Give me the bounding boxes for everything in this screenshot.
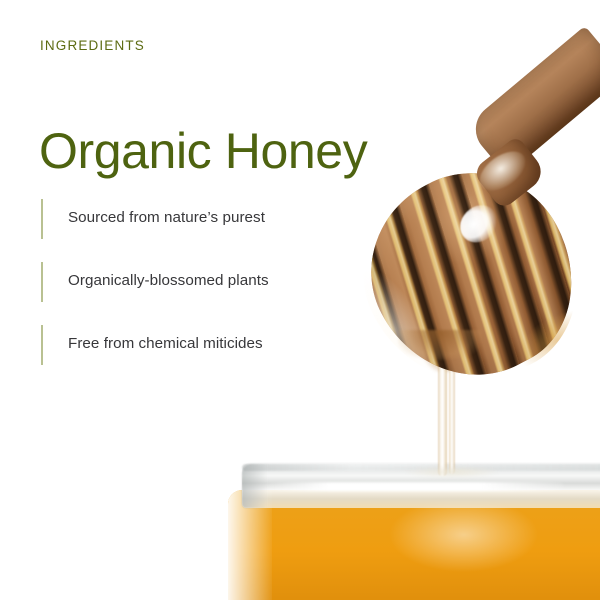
eyebrow-label: INGREDIENTS [40,38,145,53]
bullet-tick-icon [41,325,43,365]
jar-honey-fill [228,490,600,600]
dipper-gold-highlights [338,140,600,410]
dipper-ridges [338,140,600,410]
bullet-tick-icon [41,199,43,239]
dipper-handle-glaze [473,144,533,199]
honey-drip-pool [404,466,500,478]
dipper-handle-neck [471,135,547,210]
jar-glass-rim [242,462,600,508]
page-title: Organic Honey [39,126,367,176]
honey-drip-strand [438,352,447,476]
jar-left-lip [242,464,268,508]
honey-drip-source [420,338,476,372]
bullet-tick-icon [41,262,43,302]
list-item-label: Free from chemical miticides [68,335,263,352]
list-item-label: Organically-blossomed plants [68,272,269,289]
product-ingredients-card: INGREDIENTS Organic Honey Sourced from n… [0,0,600,600]
dipper-specular-highlight [453,198,505,250]
list-item-label: Sourced from nature’s purest [68,209,265,226]
honey-jar [228,462,600,600]
honey-dipper [360,150,600,400]
jar-rim-highlight [264,482,564,491]
list-item: Free from chemical miticides [41,324,341,387]
dipper-bulb [338,140,600,410]
dipper-honey-glaze [328,131,600,419]
list-item: Organically-blossomed plants [41,261,341,324]
dipper-honey-bead [398,330,482,360]
honey-drip-strand-secondary [449,356,455,474]
dipper-handle [484,85,600,222]
jar-left-shade [228,490,272,600]
list-item: Sourced from nature’s purest [41,198,341,261]
dipper-handle-shaft [465,26,600,175]
jar-rim-edge [242,464,600,471]
ingredient-benefits-list: Sourced from nature’s purest Organically… [41,198,341,387]
